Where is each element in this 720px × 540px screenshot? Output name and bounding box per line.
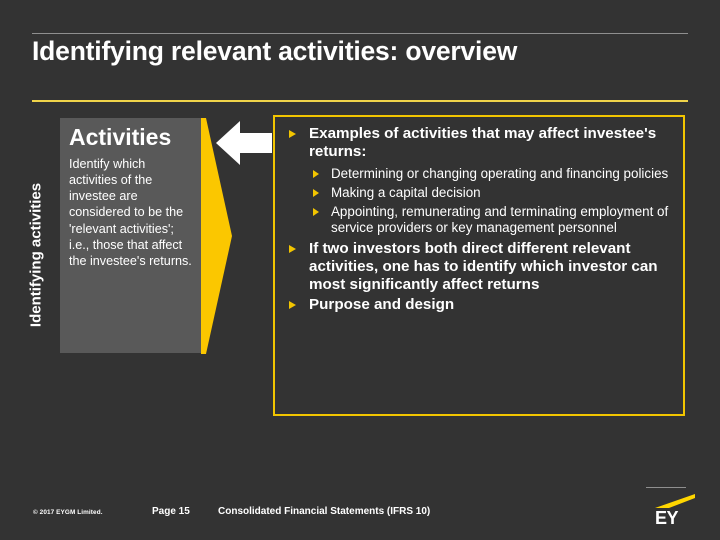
list-item: If two investors both direct different r… bbox=[283, 240, 673, 294]
list-item: Appointing, remunerating and terminating… bbox=[309, 204, 673, 236]
page-title: Identifying relevant activities: overvie… bbox=[32, 37, 692, 66]
slide-canvas: Identifying relevant activities: overvie… bbox=[0, 0, 720, 540]
activities-panel-body: Identify which activities of the investe… bbox=[69, 156, 192, 269]
examples-panel: Examples of activities that may affect i… bbox=[273, 115, 685, 416]
list-item: Making a capital decision bbox=[309, 185, 673, 201]
activities-panel-heading: Activities bbox=[69, 125, 192, 149]
list-item-text: If two investors both direct different r… bbox=[309, 240, 658, 293]
footer-divider bbox=[646, 487, 686, 488]
ey-logo-text: EY bbox=[655, 508, 678, 529]
triangle-bullet-icon bbox=[313, 208, 319, 216]
triangle-bullet-icon bbox=[289, 245, 296, 253]
list-item-text: Purpose and design bbox=[309, 296, 454, 313]
footer-subject: Consolidated Financial Statements (IFRS … bbox=[218, 506, 430, 517]
triangle-bullet-icon bbox=[289, 130, 296, 138]
list-item: Examples of activities that may affect i… bbox=[283, 125, 673, 236]
footer-copyright: © 2017 EYGM Limited. bbox=[33, 509, 103, 516]
ey-logo: EY bbox=[655, 492, 703, 530]
list-item-text: Examples of activities that may affect i… bbox=[309, 125, 656, 160]
list-item: Determining or changing operating and fi… bbox=[309, 166, 673, 182]
bullet-list-level1: Examples of activities that may affect i… bbox=[283, 125, 673, 314]
list-item-text: Determining or changing operating and fi… bbox=[331, 166, 668, 181]
triangle-bullet-icon bbox=[313, 170, 319, 178]
left-pointing-arrow-icon bbox=[214, 118, 274, 168]
ey-logo-beam-icon bbox=[655, 494, 701, 509]
vertical-section-label-text: Identifying activities bbox=[28, 183, 45, 327]
triangle-bullet-icon bbox=[289, 301, 296, 309]
header-accent-divider bbox=[32, 100, 688, 102]
footer-page-number: Page 15 bbox=[152, 506, 190, 517]
bullet-list-level2: Determining or changing operating and fi… bbox=[309, 166, 673, 236]
list-item: Purpose and design bbox=[283, 296, 673, 314]
list-item-text: Making a capital decision bbox=[331, 185, 481, 200]
activities-panel: Activities Identify which activities of … bbox=[60, 118, 201, 353]
triangle-bullet-icon bbox=[313, 189, 319, 197]
vertical-section-label: Identifying activities bbox=[24, 150, 48, 360]
header-top-divider bbox=[32, 33, 688, 34]
list-item-text: Appointing, remunerating and terminating… bbox=[331, 204, 668, 235]
